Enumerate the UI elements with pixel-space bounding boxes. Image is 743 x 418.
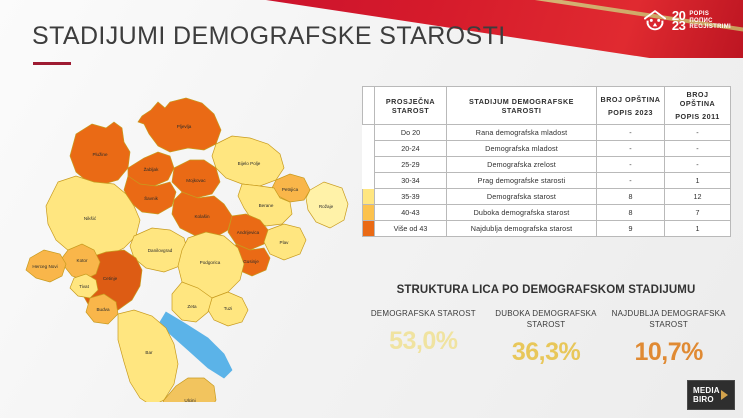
census-word-albanian: REGJISTRIMI bbox=[689, 24, 731, 31]
map-label-berane: Berane bbox=[259, 203, 274, 208]
play-triangle-icon bbox=[721, 390, 728, 400]
demographic-stage-table: PROSJEČNA STAROST STADIJUM DEMOGRAFSKE S… bbox=[362, 86, 730, 237]
census-year-bottom: 23 bbox=[672, 21, 685, 31]
row-age: 40-43 bbox=[375, 205, 447, 221]
row-color-swatch bbox=[363, 173, 375, 189]
row-age: 20-24 bbox=[375, 141, 447, 157]
structure-section: STRUKTURA LICA PO DEMOGRAFSKOM STADIJUMU… bbox=[362, 284, 730, 367]
table-header-row: PROSJEČNA STAROST STADIJUM DEMOGRAFSKE S… bbox=[363, 87, 731, 125]
table-body: Do 20Rana demografska mladost--20-24Demo… bbox=[363, 125, 731, 237]
row-count-2023: 8 bbox=[597, 205, 665, 221]
map-label-podgorica: Podgorica bbox=[200, 260, 221, 265]
structure-item-value: 53,0% bbox=[362, 327, 485, 356]
row-color-swatch bbox=[363, 141, 375, 157]
structure-item: DUBOKA DEMOGRAFSKA STAROST36,3% bbox=[485, 308, 608, 367]
map-label-mojkovac: Mojkovac bbox=[186, 178, 206, 183]
header-count-2011: BROJ OPŠTINA POPIS 2011 bbox=[665, 87, 731, 125]
title-underline bbox=[33, 62, 71, 65]
map-svg: Pljevlja Plužine Žabljak Bijelo Polje Mo… bbox=[18, 72, 358, 402]
map-label-ulcinj: Ulcinj bbox=[184, 398, 195, 402]
header-count-2023: BROJ OPŠTINA POPIS 2023 bbox=[597, 87, 665, 125]
row-count-2023: - bbox=[597, 157, 665, 173]
structure-item: DEMOGRAFSKA STAROST53,0% bbox=[362, 308, 485, 367]
header-count-2023-sub: POPIS 2023 bbox=[600, 108, 661, 117]
census-logo-words: POPIS ПОПИС REGJISTRIMI bbox=[689, 11, 731, 31]
row-stage: Demografska starost bbox=[447, 189, 597, 205]
row-stage: Duboka demografska starost bbox=[447, 205, 597, 221]
row-age: 30-34 bbox=[375, 173, 447, 189]
map-label-tuzi: Tuzi bbox=[224, 306, 233, 311]
header-count-2011-sub: POPIS 2011 bbox=[668, 112, 727, 121]
header-avg-age: PROSJEČNA STAROST bbox=[375, 87, 447, 125]
header-count-2023-main: BROJ OPŠTINA bbox=[601, 95, 661, 104]
row-stage: Demografska zrelost bbox=[447, 157, 597, 173]
row-stage: Prag demografske starosti bbox=[447, 173, 597, 189]
map-label-budva: Budva bbox=[96, 307, 109, 312]
header-stage: STADIJUM DEMOGRAFSKE STAROSTI bbox=[447, 87, 597, 125]
table-row: 20-24Demografska mladost-- bbox=[363, 141, 731, 157]
table-row: Do 20Rana demografska mladost-- bbox=[363, 125, 731, 141]
media-biro-logo: MEDIA BIRO bbox=[687, 380, 735, 410]
structure-item: NAJDUBLJA DEMOGRAFSKA STAROST10,7% bbox=[607, 308, 730, 367]
row-count-2023: - bbox=[597, 173, 665, 189]
map-label-gusinje: Gusinje bbox=[243, 259, 259, 264]
row-stage: Rana demografska mladost bbox=[447, 125, 597, 141]
row-age: Više od 43 bbox=[375, 221, 447, 237]
row-count-2011: 1 bbox=[665, 173, 731, 189]
map-label-niksic: Nikšić bbox=[84, 216, 97, 221]
row-count-2011: 12 bbox=[665, 189, 731, 205]
structure-item-label: DEMOGRAFSKA STAROST bbox=[362, 308, 485, 319]
census-logo: 20 23 POPIS ПОПИС REGJISTRIMI bbox=[642, 8, 731, 34]
map-label-savnik: Šavnik bbox=[144, 195, 158, 201]
row-color-swatch bbox=[363, 205, 375, 221]
table-row: 35-39Demografska starost812 bbox=[363, 189, 731, 205]
map-label-pljevlja: Pljevlja bbox=[177, 124, 192, 129]
map-label-zeta: Zeta bbox=[187, 304, 197, 309]
map-label-danilovgrad: Danilovgrad bbox=[148, 248, 173, 253]
slide-root: 20 23 POPIS ПОПИС REGJISTRIMI STADIJUMI … bbox=[0, 0, 743, 418]
row-count-2011: 1 bbox=[665, 221, 731, 237]
header-count-2011-main: BROJ OPŠTINA bbox=[680, 90, 715, 108]
map-label-andrijevica: Andrijevica bbox=[237, 230, 260, 235]
map-label-herceg-novi: Herceg Novi bbox=[32, 264, 57, 269]
row-color-swatch bbox=[363, 221, 375, 237]
page-title: STADIJUMI DEMOGRAFSKE STAROSTI bbox=[32, 22, 506, 51]
structure-item-label: DUBOKA DEMOGRAFSKA STAROST bbox=[485, 308, 608, 330]
map-label-zabljak: Žabljak bbox=[144, 165, 160, 172]
map-label-plav: Plav bbox=[280, 240, 290, 245]
row-count-2011: - bbox=[665, 141, 731, 157]
row-color-swatch bbox=[363, 189, 375, 205]
map-label-petnjica: Petnjica bbox=[282, 187, 299, 192]
census-year: 20 23 bbox=[672, 11, 685, 31]
house-census-icon bbox=[642, 8, 668, 34]
row-stage: Demografska mladost bbox=[447, 141, 597, 157]
table-row: 40-43Duboka demografska starost87 bbox=[363, 205, 731, 221]
structure-item-value: 10,7% bbox=[607, 338, 730, 367]
map-label-bijelo-polje: Bijelo Polje bbox=[238, 161, 261, 166]
row-age: 25-29 bbox=[375, 157, 447, 173]
row-count-2011: 7 bbox=[665, 205, 731, 221]
table-row: 30-34Prag demografske starosti-1 bbox=[363, 173, 731, 189]
map-label-tivat: Tivat bbox=[79, 284, 90, 289]
row-age: Do 20 bbox=[375, 125, 447, 141]
structure-title: STRUKTURA LICA PO DEMOGRAFSKOM STADIJUMU bbox=[362, 284, 730, 296]
row-count-2011: - bbox=[665, 157, 731, 173]
swatch-column-header bbox=[363, 87, 375, 125]
row-color-swatch bbox=[363, 157, 375, 173]
map-label-bar: Bar bbox=[145, 350, 153, 355]
row-count-2011: - bbox=[665, 125, 731, 141]
row-stage: Najdublja demografska starost bbox=[447, 221, 597, 237]
row-count-2023: 9 bbox=[597, 221, 665, 237]
row-count-2023: - bbox=[597, 141, 665, 157]
table-row: Više od 43Najdublja demografska starost9… bbox=[363, 221, 731, 237]
table-row: 25-29Demografska zrelost-- bbox=[363, 157, 731, 173]
montenegro-map: Pljevlja Plužine Žabljak Bijelo Polje Mo… bbox=[18, 72, 358, 402]
row-count-2023: 8 bbox=[597, 189, 665, 205]
map-label-pluzine: Plužine bbox=[92, 152, 108, 157]
structure-item-label: NAJDUBLJA DEMOGRAFSKA STAROST bbox=[607, 308, 730, 330]
map-label-rozaje: Rožaje bbox=[319, 204, 334, 209]
structure-columns: DEMOGRAFSKA STAROST53,0%DUBOKA DEMOGRAFS… bbox=[362, 308, 730, 367]
row-count-2023: - bbox=[597, 125, 665, 141]
map-label-kotor: Kotor bbox=[77, 258, 88, 263]
map-label-kolasin: Kolašin bbox=[194, 214, 210, 219]
structure-item-value: 36,3% bbox=[485, 338, 608, 367]
row-age: 35-39 bbox=[375, 189, 447, 205]
map-label-cetinje: Cetinje bbox=[103, 276, 118, 281]
row-color-swatch bbox=[363, 125, 375, 141]
